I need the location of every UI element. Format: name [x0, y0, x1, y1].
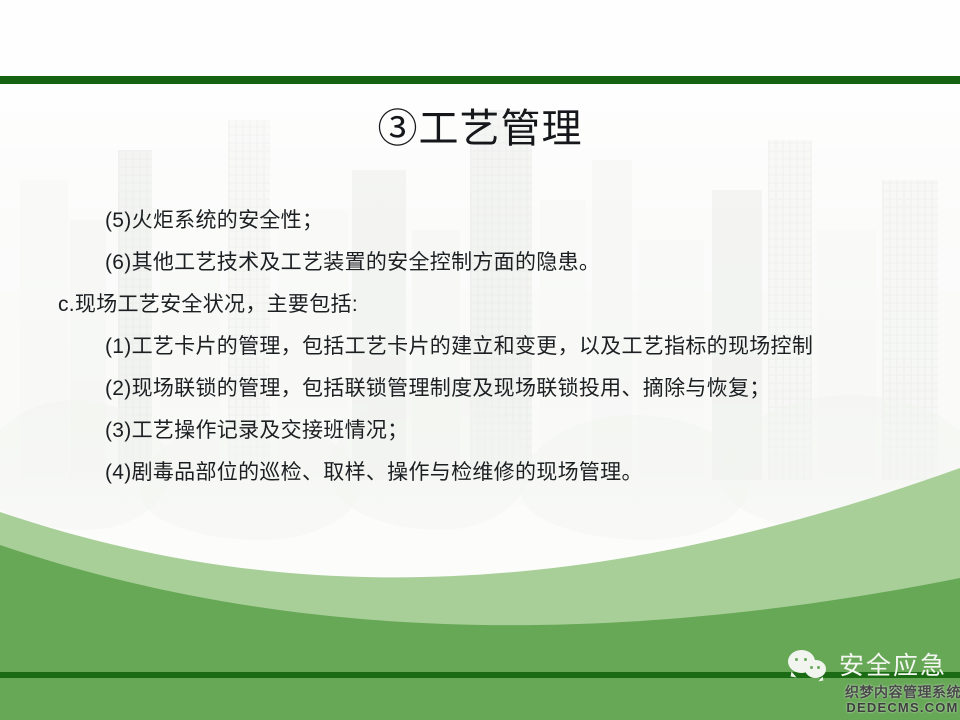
body-line: (3)工艺操作记录及交接班情况；	[0, 410, 960, 452]
dedecms-watermark-cn: 织梦内容管理系统	[845, 684, 960, 700]
dedecms-watermark-en: DEDECMS.COM	[845, 700, 960, 715]
body-line: c.现场工艺安全状况，主要包括:	[0, 284, 960, 326]
wechat-badge: 安全应急	[788, 650, 947, 682]
slide-title: ③工艺管理	[0, 104, 960, 154]
presentation-slide: ③工艺管理 (5)火炬系统的安全性； (6)其他工艺技术及工艺装置的安全控制方面…	[0, 0, 960, 720]
wechat-icon	[788, 650, 830, 682]
body-line: (4)剧毒品部位的巡检、取样、操作与检维修的现场管理。	[0, 452, 960, 494]
top-divider-rule	[0, 76, 960, 84]
body-line: (2)现场联锁的管理，包括联锁管理制度及现场联锁投用、摘除与恢复；	[0, 368, 960, 410]
wechat-label: 安全应急	[839, 651, 947, 681]
body-line: (6)其他工艺技术及工艺装置的安全控制方面的隐患。	[0, 242, 960, 284]
slide-body: (5)火炬系统的安全性； (6)其他工艺技术及工艺装置的安全控制方面的隐患。 c…	[0, 200, 960, 494]
body-line: (1)工艺卡片的管理，包括工艺卡片的建立和变更，以及工艺指标的现场控制	[0, 326, 960, 368]
body-line: (5)火炬系统的安全性；	[0, 200, 960, 242]
dedecms-watermark: 织梦内容管理系统 DEDECMS.COM	[845, 684, 960, 715]
